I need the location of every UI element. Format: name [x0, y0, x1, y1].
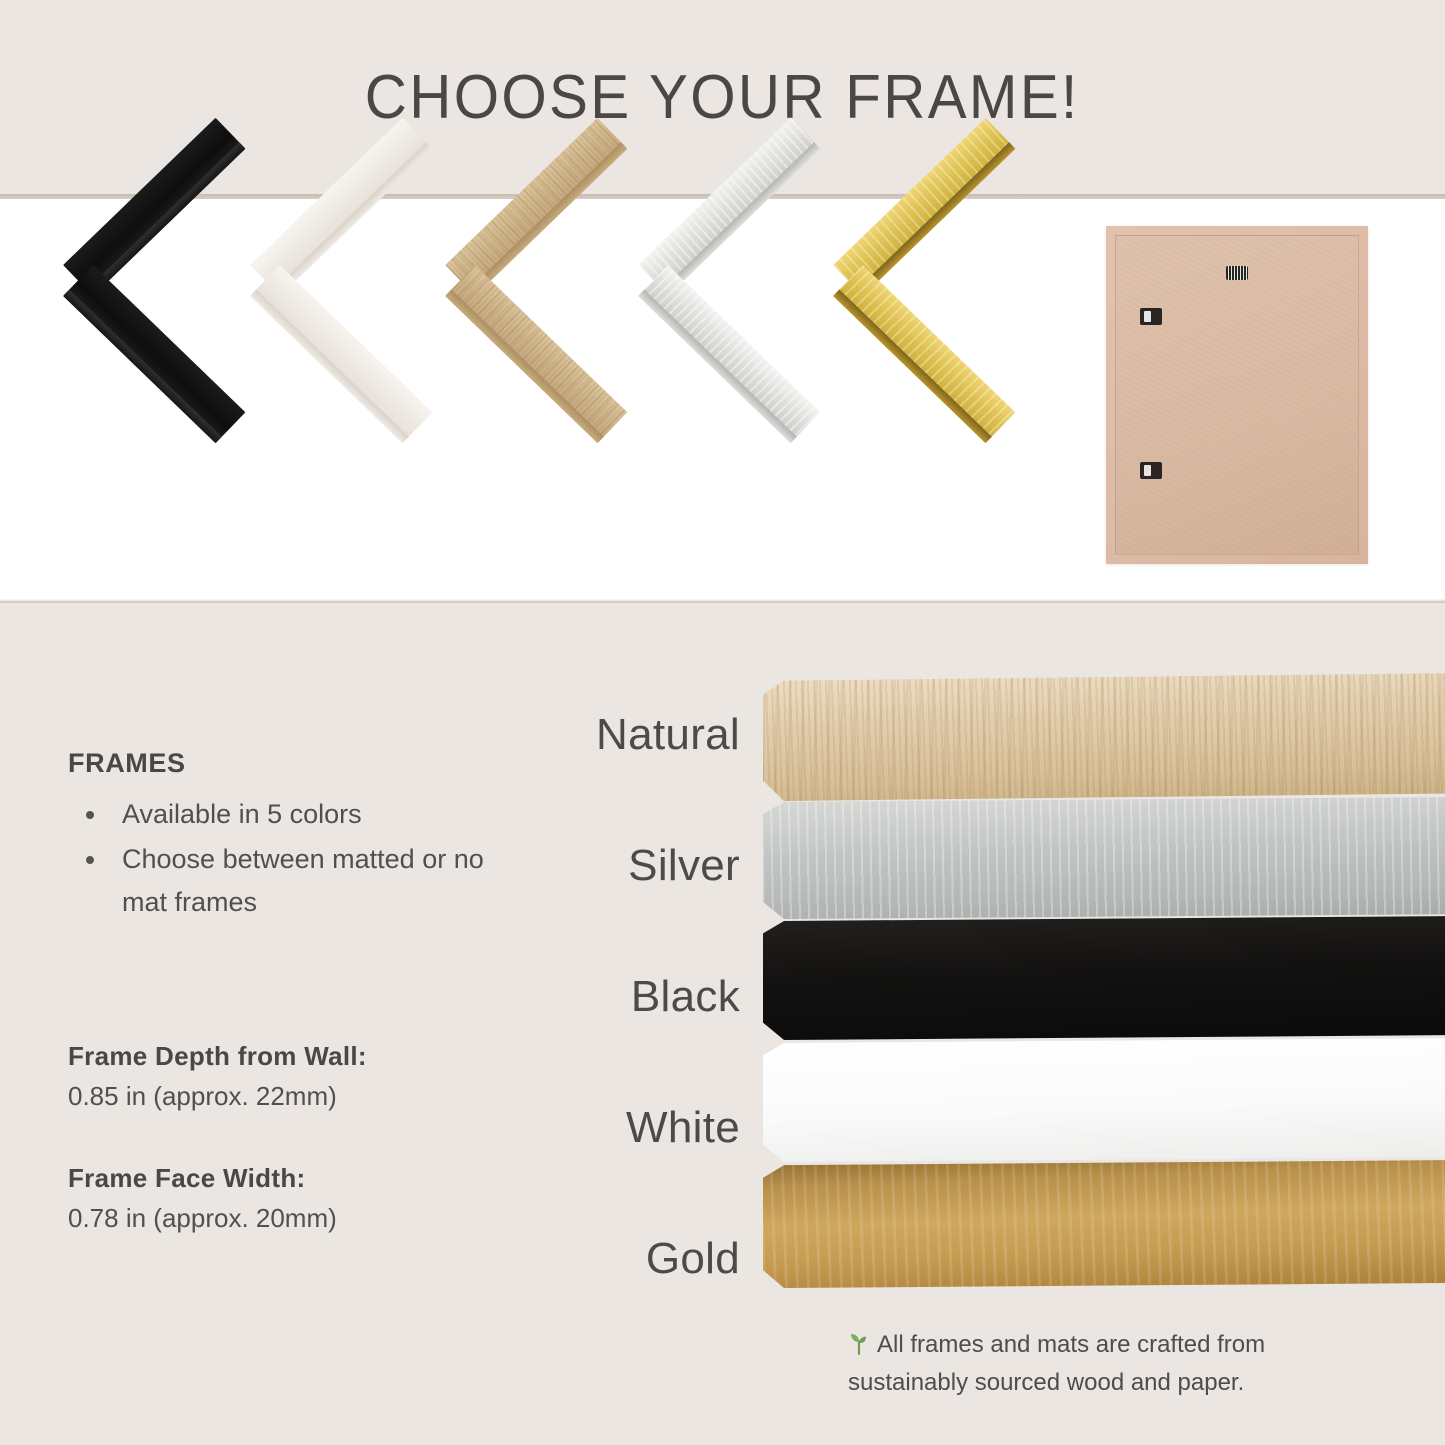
- color-label-gold[interactable]: Gold: [430, 1193, 742, 1324]
- details-section: FRAMES Available in 5 colors Choose betw…: [0, 603, 1445, 1445]
- chevron-arm-lower: [250, 265, 432, 443]
- frame-back-board: [1115, 235, 1359, 555]
- arm-face: [63, 265, 245, 443]
- frame-corner-natural[interactable]: [460, 259, 660, 529]
- frame-corner-black[interactable]: [78, 259, 278, 529]
- bullet-dot-icon: [86, 811, 94, 819]
- moulding-bar-silver[interactable]: [763, 797, 1445, 919]
- color-label-white[interactable]: White: [430, 1062, 742, 1193]
- hanging-clip-icon: [1140, 308, 1162, 325]
- chevron-arm-lower: [445, 265, 627, 443]
- hanging-clip-icon: [1140, 462, 1162, 479]
- chevron-arm-lower: [63, 265, 245, 443]
- color-label-list: Natural Silver Black White Gold: [430, 669, 742, 1324]
- moulding-bar-white[interactable]: [763, 1038, 1445, 1162]
- frame-corner-gold[interactable]: [848, 259, 1048, 529]
- color-label-black[interactable]: Black: [430, 931, 742, 1062]
- color-label-silver[interactable]: Silver: [430, 800, 742, 931]
- arm-face: [250, 265, 432, 443]
- arm-face: [833, 265, 1015, 443]
- moulding-bar-stack: [763, 673, 1445, 1318]
- frame-corner-white[interactable]: [265, 259, 465, 529]
- sawtooth-hanger-icon: [1226, 266, 1248, 280]
- arm-face: [638, 265, 820, 443]
- page-title: CHOOSE YOUR FRAME!: [365, 62, 1080, 133]
- sustainability-note-text: All frames and mats are crafted from sus…: [848, 1331, 1265, 1396]
- sustainability-note: All frames and mats are crafted from sus…: [848, 1326, 1388, 1402]
- frame-corner-silver[interactable]: [653, 259, 853, 529]
- arm-face: [445, 265, 627, 443]
- bullet-dot-icon: [86, 856, 94, 864]
- frame-back-panel[interactable]: [1106, 226, 1368, 564]
- sprout-icon: [848, 1329, 870, 1353]
- moulding-bar-natural[interactable]: [763, 673, 1445, 801]
- chevron-arm-lower: [833, 265, 1015, 443]
- list-item-label: Available in 5 colors: [122, 799, 362, 829]
- moulding-bar-black[interactable]: [763, 916, 1445, 1040]
- chevron-arm-lower: [638, 265, 820, 443]
- moulding-bar-gold[interactable]: [763, 1160, 1445, 1288]
- color-label-natural[interactable]: Natural: [430, 669, 742, 800]
